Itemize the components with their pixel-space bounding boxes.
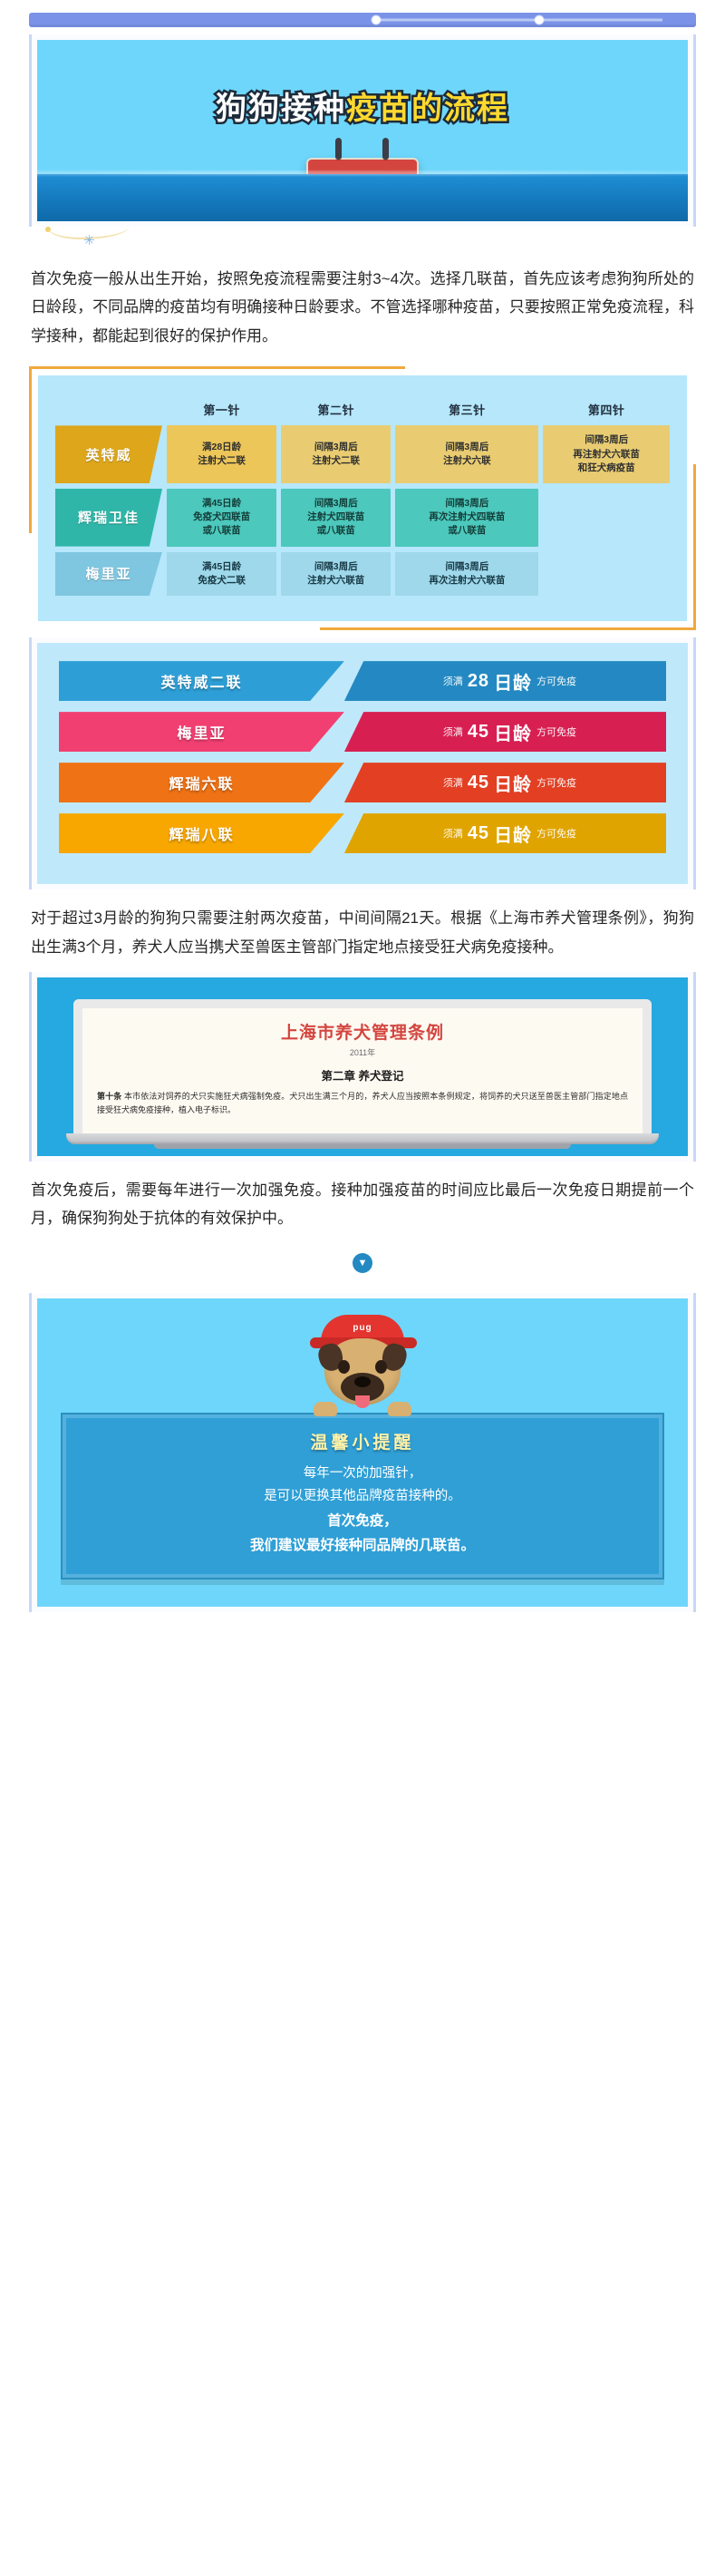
regulation-article-no: 第十条 [97, 1092, 121, 1101]
ribbon-prefix: 须满 [443, 724, 463, 739]
vaccine-schedule-table: 第一针 第二针 第三针 第四针 英特威 满28日龄注射犬二联 间隔3周后注射犬二… [51, 395, 674, 601]
calendar-ring-left [335, 138, 342, 160]
pug-face [324, 1338, 401, 1405]
cell-r2-c0: 满45日龄免疫犬二联 [167, 552, 276, 596]
hero-frame: 狗狗接种疫苗的流程 [29, 34, 696, 227]
chevron-down-icon[interactable]: ▼ [353, 1253, 372, 1273]
brand-tag-merial: 梅里亚 [55, 552, 162, 596]
ribbon-row-intervet: 英特威二联 须满 28 日龄 方可免疫 [59, 661, 666, 701]
hero-title: 狗狗接种疫苗的流程 [37, 83, 688, 128]
hero-title-white: 狗狗接种 [216, 91, 346, 127]
tips-card: pug [37, 1298, 688, 1607]
article-page: 狗狗接种疫苗的流程 [0, 0, 725, 1621]
ribbon-age: 45 [468, 722, 489, 743]
regulation-article-text: 本市依法对饲养的犬只实施狂犬病强制免疫。犬只出生满三个月的，养犬人应当按照本条例… [97, 1092, 628, 1114]
ribbon-unit: 日龄 [494, 770, 532, 796]
ribbon-age: 28 [468, 671, 489, 692]
regulation-title: 上海市养犬管理条例 [97, 1019, 628, 1044]
pug-paw-right [388, 1402, 411, 1416]
progress-slider[interactable] [29, 13, 696, 27]
hero-banner: 狗狗接种疫苗的流程 [37, 40, 688, 221]
ribbon-prefix: 须满 [443, 775, 463, 790]
table-row: 梅里亚 满45日龄免疫犬二联 间隔3周后注射犬六联苗 间隔3周后再次注射犬六联苗 [55, 552, 670, 596]
ribbon-card-wrap: 英特威二联 须满 28 日龄 方可免疫 梅里亚 须满 45 日龄 方可免疫 [0, 630, 725, 889]
laptop-illustration: 上海市养犬管理条例 2011年 第二章 养犬登记 第十条 本市依法对饲养的犬只实… [37, 977, 688, 1156]
regulation-card-wrap: 上海市养犬管理条例 2011年 第二章 养犬登记 第十条 本市依法对饲养的犬只实… [0, 965, 725, 1162]
slider-track [376, 19, 662, 22]
tips-line-1: 每年一次的加强针， [79, 1463, 646, 1485]
cap-text: pug [353, 1323, 372, 1333]
cell-r0-c2: 间隔3周后注射犬六联 [395, 425, 538, 483]
divider-container: ▼ [0, 1237, 725, 1286]
calendar-ring-right [382, 138, 389, 160]
schedule-bracket-frame: 第一针 第二针 第三针 第四针 英特威 满28日龄注射犬二联 间隔3周后注射犬二… [29, 366, 696, 630]
ribbon-suffix: 方可免疫 [536, 775, 576, 790]
ribbon-label: 英特威二联 [59, 661, 344, 701]
tips-frame: pug [29, 1293, 696, 1612]
table-row: 英特威 满28日龄注射犬二联 间隔3周后注射犬二联 间隔3周后注射犬六联 间隔3… [55, 425, 670, 483]
cell-r2-c2: 间隔3周后再次注射犬六联苗 [395, 552, 538, 596]
th-dose-1: 第一针 [167, 401, 276, 420]
cell-r2-c3 [543, 552, 670, 596]
table-header-row: 第一针 第二针 第三针 第四针 [55, 401, 670, 420]
tips-line-4: 我们建议最好接种同品牌的几联苗。 [79, 1533, 646, 1558]
ribbon-unit: 日龄 [494, 719, 532, 745]
tips-heading: 温馨小提醒 [79, 1429, 646, 1453]
pug-eye-right [375, 1360, 387, 1374]
hero-sea [37, 174, 688, 221]
paragraph-3: 首次免疫后，需要每年进行一次加强免疫。接种加强疫苗的时间应比最后一次免疫日期提前… [0, 1162, 725, 1237]
ribbon-value: 须满 45 日龄 方可免疫 [344, 763, 666, 802]
decoration-sparkle: ✳ [0, 227, 725, 250]
sparkle-icon: ✳ [83, 232, 95, 248]
cell-r2-c1: 间隔3周后注射犬六联苗 [281, 552, 391, 596]
cell-r1-c2: 间隔3周后再次注射犬四联苗或八联苗 [395, 489, 538, 547]
th-dose-4: 第四针 [543, 401, 670, 420]
laptop-base [66, 1133, 659, 1144]
cell-r1-c1: 间隔3周后注射犬四联苗或八联苗 [281, 489, 391, 547]
hero-title-yellow: 疫苗的流程 [346, 91, 509, 127]
cell-r1-c0: 满45日龄免疫犬四联苗或八联苗 [167, 489, 276, 547]
ribbon-value: 须满 45 日龄 方可免疫 [344, 813, 666, 853]
ribbon-row-pfizer-6: 辉瑞六联 须满 45 日龄 方可免疫 [59, 763, 666, 802]
ribbon-value: 须满 45 日龄 方可免疫 [344, 712, 666, 752]
ribbon-age: 45 [468, 773, 489, 793]
min-age-card: 英特威二联 须满 28 日龄 方可免疫 梅里亚 须满 45 日龄 方可免疫 [37, 643, 688, 884]
pug-mascot: pug [304, 1315, 421, 1416]
table-body: 英特威 满28日龄注射犬二联 间隔3周后注射犬二联 间隔3周后注射犬六联 间隔3… [55, 425, 670, 596]
ribbon-label: 辉瑞八联 [59, 813, 344, 853]
slider-handle-2[interactable] [536, 16, 544, 24]
th-blank [55, 401, 162, 420]
ribbon-unit: 日龄 [494, 821, 532, 847]
pug-nose [354, 1376, 371, 1387]
ribbon-prefix: 须满 [443, 674, 463, 688]
brand-tag-intervet: 英特威 [55, 425, 162, 483]
cell-r0-c1: 间隔3周后注射犬二联 [281, 425, 391, 483]
regulation-frame: 上海市养犬管理条例 2011年 第二章 养犬登记 第十条 本市依法对饲养的犬只实… [29, 972, 696, 1162]
schedule-card: 第一针 第二针 第三针 第四针 英特威 满28日龄注射犬二联 间隔3周后注射犬二… [38, 375, 687, 621]
calendar-rings [308, 138, 417, 158]
paragraph-1: 首次免疫一般从出生开始，按照免疫流程需要注射3~4次。选择几联苗，首先应该考虑狗… [0, 250, 725, 354]
tips-card-wrap: pug [0, 1286, 725, 1612]
cell-r0-c3: 间隔3周后再注射犬六联苗和狂犬病疫苗 [543, 425, 670, 483]
tips-line-2: 是可以更换其他品牌疫苗接种的。 [79, 1485, 646, 1508]
regulation-year: 2011年 [97, 1046, 628, 1058]
pug-eye-left [338, 1360, 350, 1374]
pug-muzzle [341, 1373, 384, 1402]
pug-paws [308, 1400, 417, 1416]
brand-tag-pfizer-weijia: 辉瑞卫佳 [55, 489, 162, 547]
topbar-container [0, 0, 725, 27]
ribbon-age: 45 [468, 823, 489, 844]
table-row: 辉瑞卫佳 满45日龄免疫犬四联苗或八联苗 间隔3周后注射犬四联苗或八联苗 间隔3… [55, 489, 670, 547]
pug-paw-left [314, 1402, 337, 1416]
regulation-body: 第十条 本市依法对饲养的犬只实施狂犬病强制免疫。犬只出生满三个月的，养犬人应当按… [97, 1090, 628, 1118]
th-dose-3: 第三针 [395, 401, 538, 420]
tips-sign: 温馨小提醒 每年一次的加强针， 是可以更换其他品牌疫苗接种的。 首次免疫， 我们… [61, 1413, 664, 1580]
ribbon-row-merial: 梅里亚 须满 45 日龄 方可免疫 [59, 712, 666, 752]
ribbon-suffix: 方可免疫 [536, 826, 576, 841]
slider-handle-1[interactable] [372, 16, 380, 24]
th-dose-2: 第二针 [281, 401, 391, 420]
ribbon-label: 辉瑞六联 [59, 763, 344, 802]
cell-r0-c0: 满28日龄注射犬二联 [167, 425, 276, 483]
ribbon-value: 须满 28 日龄 方可免疫 [344, 661, 666, 701]
ribbon-row-pfizer-8: 辉瑞八联 须满 45 日龄 方可免疫 [59, 813, 666, 853]
ribbon-unit: 日龄 [494, 668, 532, 695]
regulation-section: 第二章 养犬登记 [97, 1066, 628, 1084]
ribbon-frame: 英特威二联 须满 28 日龄 方可免疫 梅里亚 须满 45 日龄 方可免疫 [29, 637, 696, 889]
laptop-foot [154, 1144, 570, 1149]
cell-r1-c3 [543, 489, 670, 547]
ribbon-prefix: 须满 [443, 826, 463, 841]
paragraph-2: 对于超过3月龄的狗狗只需要注射两次疫苗，中间间隔21天。根据《上海市养犬管理条例… [0, 889, 725, 965]
hero-card-wrap: 狗狗接种疫苗的流程 [0, 27, 725, 227]
ribbon-suffix: 方可免疫 [536, 724, 576, 739]
tips-line-3: 首次免疫， [79, 1509, 646, 1533]
ribbon-suffix: 方可免疫 [536, 674, 576, 688]
laptop-screen: 上海市养犬管理条例 2011年 第二章 养犬登记 第十条 本市依法对饲养的犬只实… [73, 999, 652, 1133]
ribbon-label: 梅里亚 [59, 712, 344, 752]
